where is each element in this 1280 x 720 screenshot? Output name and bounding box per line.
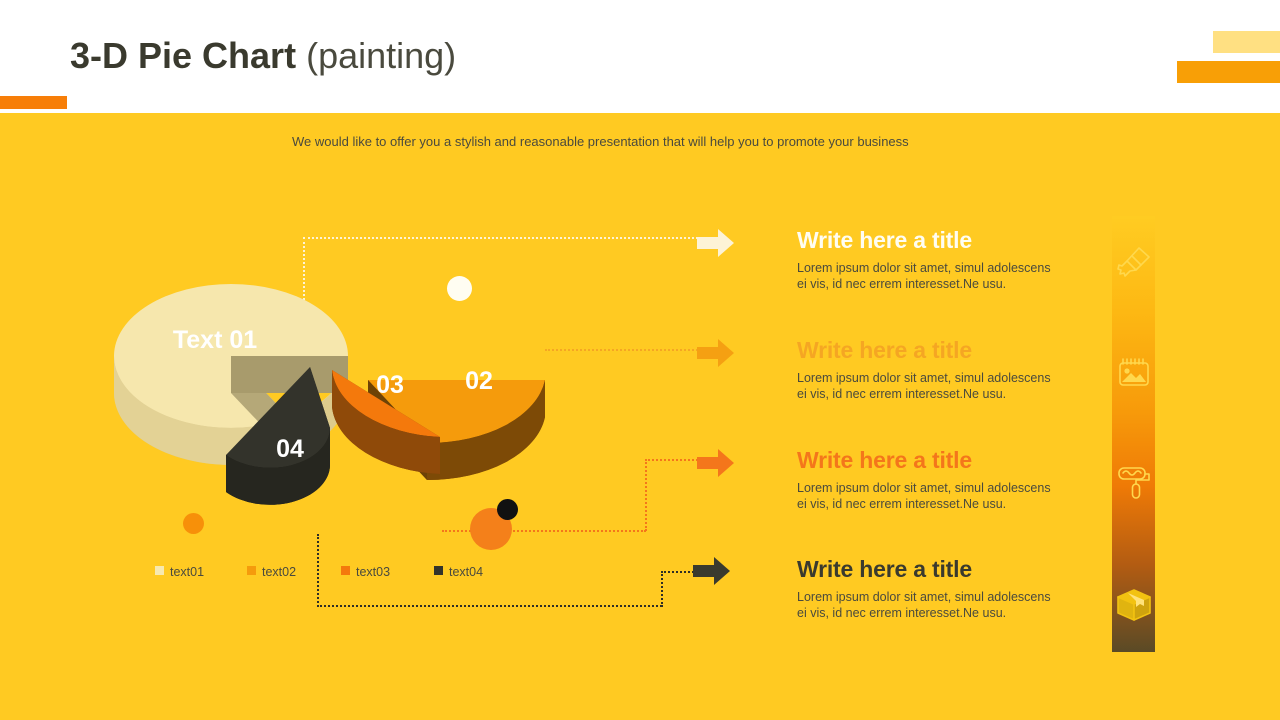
decoration-top-right-orange-bar (1177, 61, 1280, 83)
callout-block-3: Write here a title Lorem ipsum dolor sit… (797, 446, 1057, 512)
callout-body-2: Lorem ipsum dolor sit amet, simul adoles… (797, 370, 1057, 402)
decoration-top-right-light-bar (1213, 31, 1280, 53)
callout-block-1: Write here a title Lorem ipsum dolor sit… (797, 226, 1057, 292)
legend-label-text01: text01 (170, 565, 204, 579)
picture-icon (1116, 356, 1152, 397)
pie-label-04: 04 (276, 435, 304, 463)
legend-item-text01[interactable]: text01 (155, 565, 204, 579)
legend-label-text03: text03 (356, 565, 390, 579)
callout-arrow-2[interactable] (697, 338, 735, 368)
legend-label-text04: text04 (449, 565, 483, 579)
slide-root: 3-D Pie Chart (painting) We would like t… (0, 0, 1280, 720)
connector-line-1-horizontal (303, 237, 698, 239)
slide-subtitle: We would like to offer you a stylish and… (292, 134, 909, 149)
callout-title-3: Write here a title (797, 446, 1057, 474)
package-box-icon (1115, 584, 1153, 627)
paint-roller-icon (1116, 464, 1152, 509)
callout-block-4: Write here a title Lorem ipsum dolor sit… (797, 555, 1057, 621)
legend-swatch-text01 (155, 566, 164, 575)
chart-legend: text01 text02 text03 text04 (155, 565, 515, 581)
legend-swatch-text03 (341, 566, 350, 575)
callout-arrow-3[interactable] (697, 448, 735, 478)
legend-item-text04[interactable]: text04 (434, 565, 483, 579)
decoration-left-orange-bar (0, 96, 67, 109)
pie-label-01: Text 01 (173, 326, 257, 354)
callout-title-2: Write here a title (797, 336, 1057, 364)
connector-line-4-horizontal-bottom (317, 605, 662, 607)
connector-line-4-vertical-right (661, 571, 663, 607)
callout-title-4: Write here a title (797, 555, 1057, 583)
legend-item-text02[interactable]: text02 (247, 565, 296, 579)
legend-swatch-text02 (247, 566, 256, 575)
callout-block-2: Write here a title Lorem ipsum dolor sit… (797, 336, 1057, 402)
callout-title-1: Write here a title (797, 226, 1057, 254)
callout-body-4: Lorem ipsum dolor sit amet, simul adoles… (797, 589, 1057, 621)
callout-body-3: Lorem ipsum dolor sit amet, simul adoles… (797, 480, 1057, 512)
callout-body-1: Lorem ipsum dolor sit amet, simul adoles… (797, 260, 1057, 292)
page-title-strong: 3-D Pie Chart (70, 35, 296, 76)
page-title-light: (painting) (306, 35, 456, 76)
legend-label-text02: text02 (262, 565, 296, 579)
callout-arrow-4[interactable] (693, 556, 731, 586)
pie-label-03: 03 (376, 371, 404, 399)
decorative-icon-strip (1112, 216, 1155, 652)
connector-line-3-vertical (645, 459, 647, 531)
legend-item-text03[interactable]: text03 (341, 565, 390, 579)
legend-swatch-text04 (434, 566, 443, 575)
connector-line-3-horizontal-upper (645, 459, 698, 461)
page-title: 3-D Pie Chart (painting) (70, 32, 456, 80)
paintbrush-icon (1116, 244, 1152, 285)
pie-chart: Text 01 02 03 04 (100, 265, 570, 565)
callout-arrow-1[interactable] (697, 228, 735, 258)
